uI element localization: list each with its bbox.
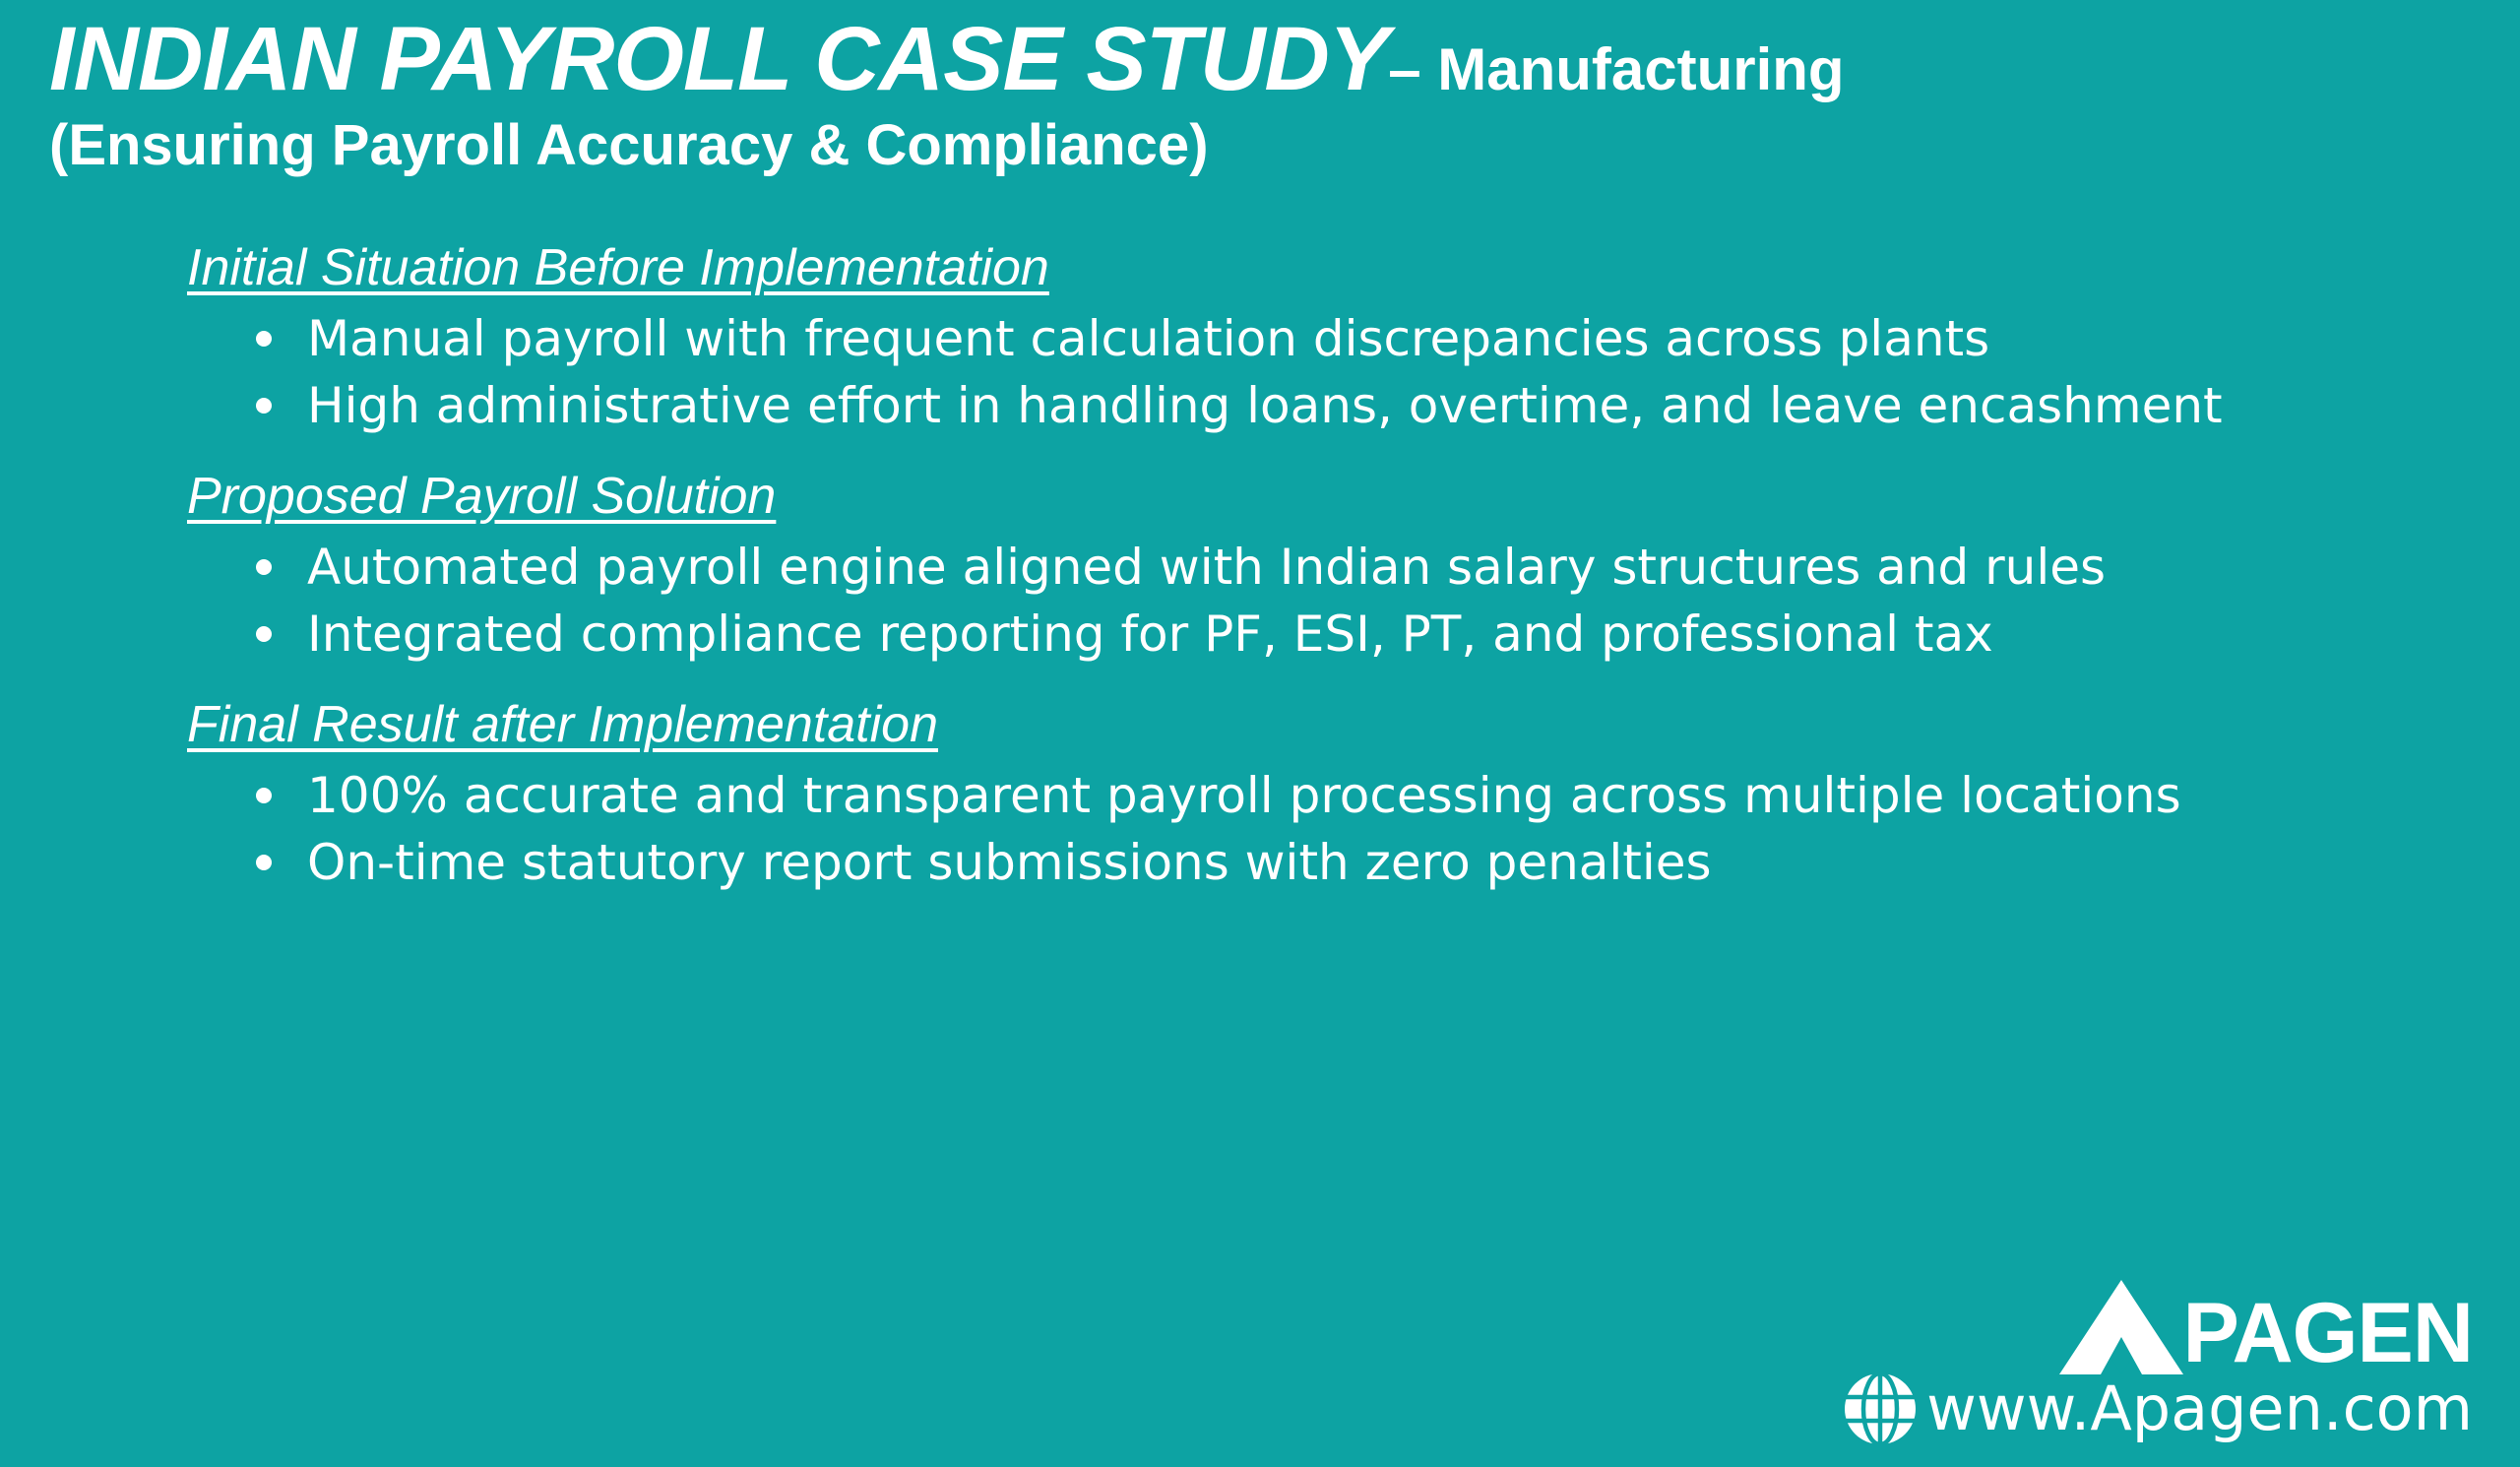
list-item: High administrative effort in handling l… (250, 378, 2510, 433)
content-body: Initial Situation Before Implementation … (187, 242, 2510, 902)
logo-wordmark-row: PAGEN (1844, 1280, 2473, 1371)
page-title: INDIAN PAYROLL CASE STUDY (49, 9, 1388, 109)
section-final-result: Final Result after Implementation 100% a… (187, 699, 2510, 890)
section-initial-situation: Initial Situation Before Implementation … (187, 242, 2510, 433)
bullet-dot-icon (256, 398, 272, 414)
bullet-dot-icon (256, 788, 272, 803)
globe-icon (1844, 1372, 1917, 1445)
list-item: Automated payroll engine aligned with In… (250, 540, 2510, 595)
bullet-list: Automated payroll engine aligned with In… (187, 540, 2510, 662)
section-proposed-solution: Proposed Payroll Solution Automated payr… (187, 471, 2510, 662)
bullet-list: 100% accurate and transparent payroll pr… (187, 768, 2510, 890)
bullet-dot-icon (256, 559, 272, 575)
section-heading: Proposed Payroll Solution (187, 471, 2510, 522)
title-block: INDIAN PAYROLL CASE STUDY– Manufacturing… (49, 14, 2490, 176)
bullet-dot-icon (256, 855, 272, 870)
apagen-triangle-a-icon (2059, 1280, 2183, 1374)
title-line-primary: INDIAN PAYROLL CASE STUDY– Manufacturing (49, 14, 2490, 104)
list-item: Integrated compliance reporting for PF, … (250, 606, 2510, 662)
page-subtitle: (Ensuring Payroll Accuracy & Compliance) (49, 116, 2490, 176)
list-item: On-time statutory report submissions wit… (250, 835, 2510, 890)
list-item: Manual payroll with frequent calculation… (250, 311, 2510, 366)
bullet-list: Manual payroll with frequent calculation… (187, 311, 2510, 433)
list-item-text: Manual payroll with frequent calculation… (307, 310, 1989, 367)
logo-wordmark-text: PAGEN (2183, 1298, 2473, 1371)
list-item-text: Automated payroll engine aligned with In… (307, 539, 2106, 596)
page-title-suffix: – Manufacturing (1388, 36, 1844, 102)
list-item-text: On-time statutory report submissions wit… (307, 834, 1712, 891)
list-item-text: Integrated compliance reporting for PF, … (307, 606, 1993, 663)
list-item-text: 100% accurate and transparent payroll pr… (307, 767, 2181, 824)
website-url[interactable]: www.Apagen.com (1926, 1378, 2473, 1439)
slide-canvas: INDIAN PAYROLL CASE STUDY– Manufacturing… (0, 0, 2520, 1467)
website-row[interactable]: www.Apagen.com (1844, 1372, 2473, 1445)
list-item: 100% accurate and transparent payroll pr… (250, 768, 2510, 823)
brand-logo: PAGEN www.Apagen.com (1844, 1280, 2473, 1445)
list-item-text: High administrative effort in handling l… (307, 377, 2223, 434)
section-heading: Initial Situation Before Implementation (187, 242, 2510, 293)
bullet-dot-icon (256, 331, 272, 347)
section-heading: Final Result after Implementation (187, 699, 2510, 750)
bullet-dot-icon (256, 626, 272, 642)
